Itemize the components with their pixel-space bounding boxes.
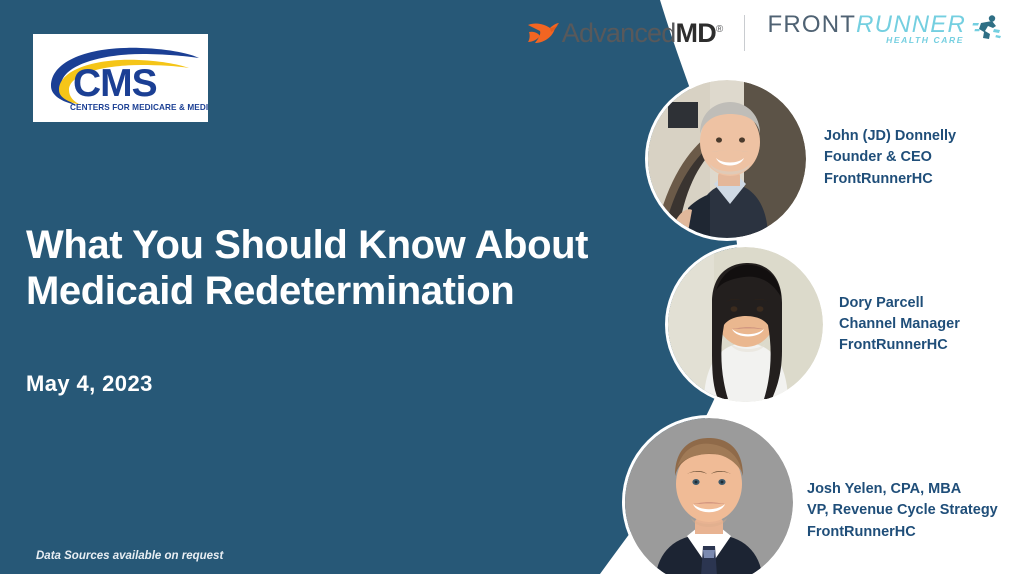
frontrunner-logo: FRONTRUNNER HEALTH CARE <box>767 13 1002 53</box>
frontrunner-wordmark: FRONTRUNNER HEALTH CARE <box>767 13 966 37</box>
brand-bar: AdvancedMD® FRONTRUNNER HEALTH CARE <box>526 10 1002 56</box>
speaker-card: Josh Yelen, CPA, MBA VP, Revenue Cycle S… <box>625 418 998 574</box>
slide-title-line-1: What You Should Know About <box>26 223 588 267</box>
cms-logo: CMS CENTERS FOR MEDICARE & MEDICAID SERV… <box>33 34 208 122</box>
speaker-name: Dory Parcell <box>839 293 960 314</box>
frontrunner-word-front: FRONT <box>767 11 856 38</box>
runner-icon <box>972 14 1002 40</box>
speaker-role: Founder & CEO <box>824 147 956 168</box>
slide-title-line-2: Medicaid Redetermination <box>26 269 514 313</box>
speaker-info: John (JD) Donnelly Founder & CEO FrontRu… <box>824 126 956 189</box>
speaker-org: FrontRunnerHC <box>839 335 960 356</box>
slide-footnote: Data Sources available on request <box>36 550 223 562</box>
advancedmd-wordmark: AdvancedMD® <box>562 20 723 47</box>
speaker-info: Dory Parcell Channel Manager FrontRunner… <box>839 293 960 356</box>
presentation-slide: CMS CENTERS FOR MEDICARE & MEDICAID SERV… <box>0 0 1024 574</box>
speaker-name: John (JD) Donnelly <box>824 126 956 147</box>
frontrunner-subtitle: HEALTH CARE <box>886 36 964 45</box>
advancedmd-word-bold: MD <box>676 18 716 48</box>
speaker-info: Josh Yelen, CPA, MBA VP, Revenue Cycle S… <box>807 479 998 542</box>
advancedmd-logo: AdvancedMD® <box>526 13 723 53</box>
brand-divider <box>744 15 745 51</box>
advancedmd-trademark: ® <box>716 24 723 35</box>
speaker-card: John (JD) Donnelly Founder & CEO FrontRu… <box>648 80 956 238</box>
avatar <box>668 247 823 402</box>
speaker-role: VP, Revenue Cycle Strategy <box>807 500 998 521</box>
svg-text:CMS: CMS <box>73 62 157 105</box>
speaker-org: FrontRunnerHC <box>807 522 998 543</box>
page-title: What You Should Know About Medicaid Rede… <box>26 222 636 314</box>
frontrunner-word-runner: RUNNER <box>856 11 966 38</box>
speaker-role: Channel Manager <box>839 314 960 335</box>
slide-date: May 4, 2023 <box>26 371 153 397</box>
cms-tagline: CENTERS FOR MEDICARE & MEDICAID SERVICES <box>70 103 208 112</box>
avatar <box>625 418 793 574</box>
avatar <box>648 80 806 238</box>
advancedmd-word-light: Advanced <box>562 18 676 48</box>
speaker-name: Josh Yelen, CPA, MBA <box>807 479 998 500</box>
speaker-card: Dory Parcell Channel Manager FrontRunner… <box>668 247 960 402</box>
hummingbird-icon <box>526 18 560 48</box>
speaker-org: FrontRunnerHC <box>824 169 956 190</box>
slide-title: What You Should Know About Medicaid Rede… <box>26 222 636 314</box>
